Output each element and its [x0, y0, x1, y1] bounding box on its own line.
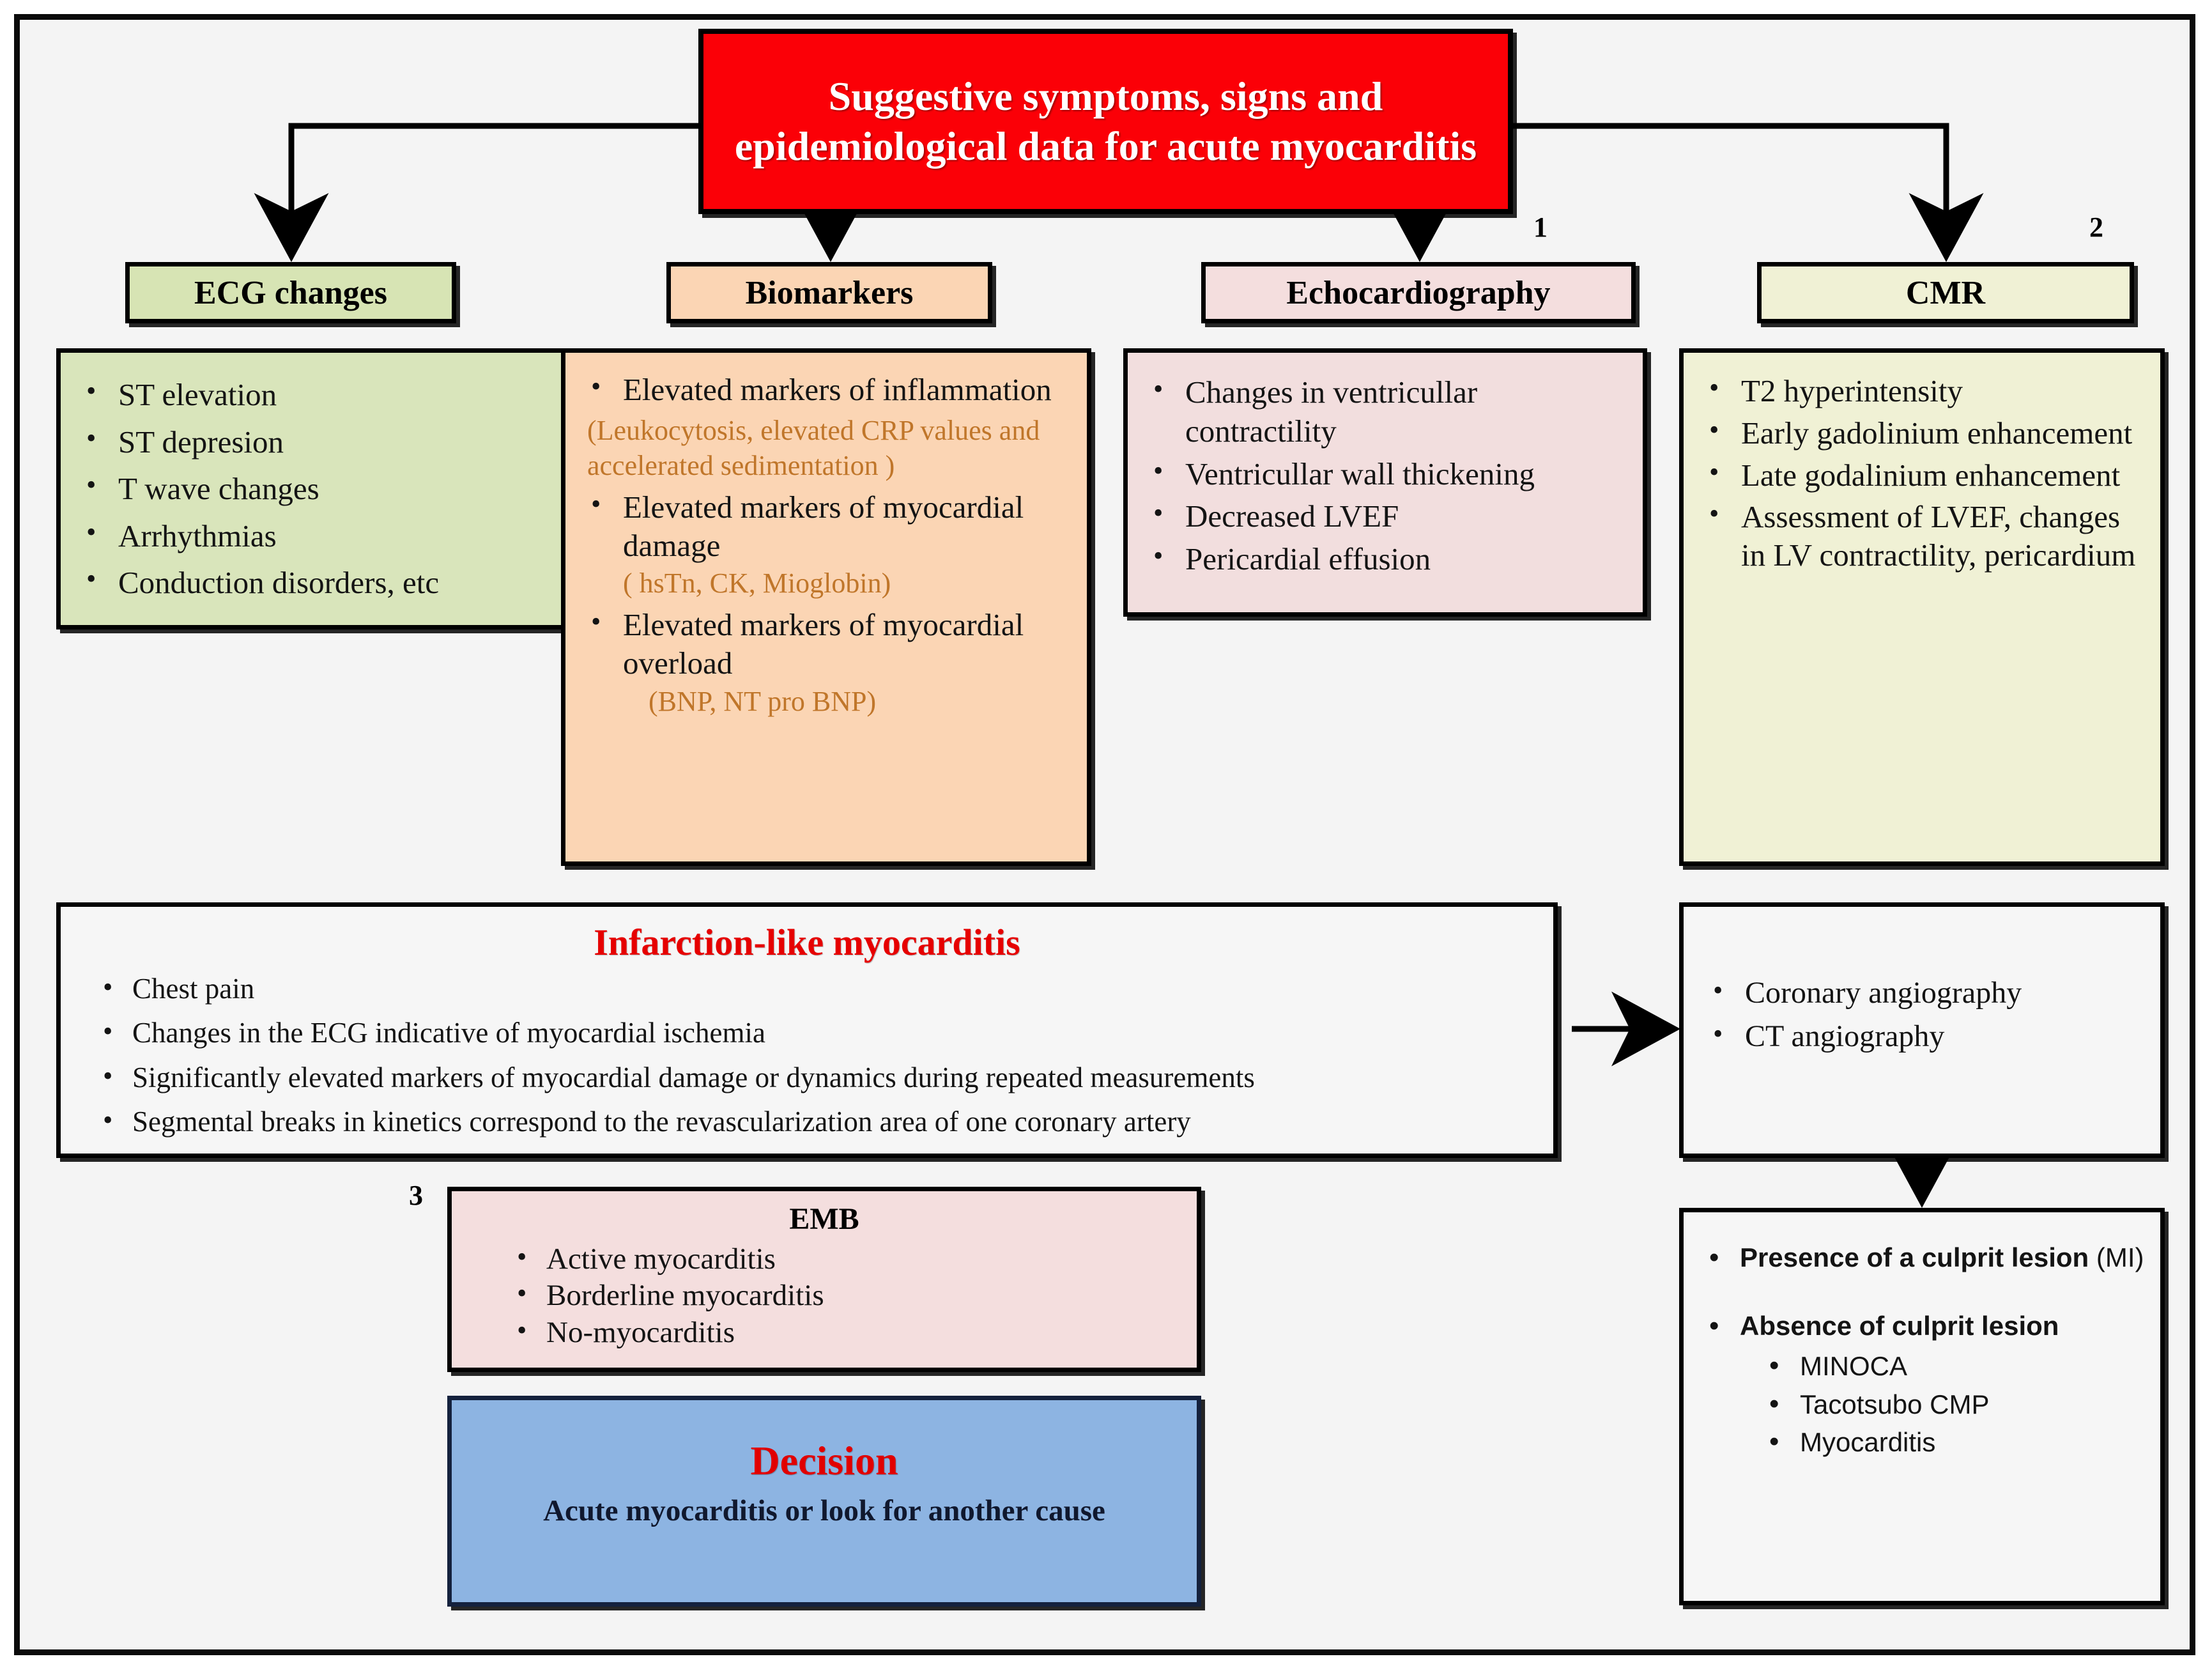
list-item: Late godalinium enhancement — [1705, 456, 2146, 495]
content-echocardiography: Changes in ventricullar contractility Ve… — [1123, 348, 1647, 617]
list-item: Pericardial effusion — [1149, 540, 1629, 579]
biomarker-note: (BNP, NT pro BNP) — [649, 684, 1073, 719]
list-item: Elevated markers of myocardial overload … — [587, 606, 1073, 719]
list-item: ST elevation — [82, 373, 549, 417]
list-item: Segmental breaks in kinetics correspond … — [99, 1107, 1540, 1137]
list-item: Early gadolinium enhancement — [1705, 414, 2146, 452]
emb-title: EMB — [452, 1191, 1197, 1237]
header-biomarkers: Biomarkers — [666, 262, 992, 323]
list-item: Arrhythmias — [82, 514, 549, 558]
absence-sublist: MINOCA Tacotsubo CMP Myocarditis — [1740, 1347, 2147, 1462]
decision-box: Decision Acute myocarditis or look for a… — [447, 1396, 1201, 1607]
page-title: Suggestive symptoms, signs and epidemiol… — [703, 72, 1508, 171]
list-item: T2 hyperintensity — [1705, 372, 2146, 410]
list-item: Significantly elevated markers of myocar… — [99, 1063, 1540, 1093]
list-item: ST depresion — [82, 421, 549, 464]
biomarker-note: ( hsTn, CK, Mioglobin) — [623, 566, 1073, 601]
list-item: Coronary angiography — [1709, 973, 2151, 1013]
biomarker-main: Elevated markers of inflammation — [623, 372, 1052, 407]
list-item: Assessment of LVEF, changes in LV contra… — [1705, 498, 2146, 575]
list-item-absence: Absence of culprit lesion MINOCA Tacotsu… — [1705, 1309, 2147, 1462]
biomarker-main: Elevated markers of myocardial damage — [623, 490, 1024, 563]
angiography-box: Coronary angiography CT angiography — [1679, 902, 2165, 1158]
list-item: No-myocarditis — [513, 1315, 1184, 1350]
sub-list-item: Myocarditis — [1765, 1423, 2147, 1462]
sub-list-item: Tacotsubo CMP — [1765, 1386, 2147, 1424]
emb-item-list: Active myocarditis Borderline myocarditi… — [452, 1237, 1197, 1350]
list-item: T wave changes — [82, 467, 549, 511]
list-item: Decreased LVEF — [1149, 497, 1629, 536]
footnote-marker-1: 1 — [1533, 211, 1548, 243]
presence-label: Presence of a culprit lesion — [1740, 1242, 2089, 1272]
spacer — [1705, 1276, 2147, 1309]
absence-label: Absence of culprit lesion — [1740, 1311, 2059, 1341]
list-item: Ventricullar wall thickening — [1149, 455, 1629, 494]
cmr-item-list: T2 hyperintensity Early gadolinium enhan… — [1684, 353, 2160, 575]
angiography-item-list: Coronary angiography CT angiography — [1684, 907, 2160, 1057]
infarction-like-myocarditis-box: Infarction-like myocarditis Chest pain C… — [56, 902, 1558, 1158]
list-item: Elevated markers of myocardial damage ( … — [587, 488, 1073, 601]
content-cmr: T2 hyperintensity Early gadolinium enhan… — [1679, 348, 2165, 866]
footnote-marker-2: 2 — [2089, 211, 2103, 243]
list-item: CT angiography — [1709, 1017, 2151, 1056]
list-item: Conduction disorders, etc — [82, 561, 549, 605]
diagram-canvas: Suggestive symptoms, signs and epidemiol… — [0, 0, 2212, 1675]
emb-box: EMB Active myocarditis Borderline myocar… — [447, 1187, 1201, 1372]
list-item: Elevated markers of inflammation — [587, 371, 1073, 409]
presence-abbrev: (MI) — [2089, 1242, 2144, 1272]
list-item-presence: Presence of a culprit lesion (MI) — [1705, 1240, 2147, 1276]
infarction-item-list: Chest pain Changes in the ECG indicative… — [61, 964, 1553, 1137]
ecg-item-list: ST elevation ST depresion T wave changes… — [61, 353, 563, 605]
echo-item-list: Changes in ventricullar contractility Ve… — [1128, 353, 1643, 579]
main-title-box: Suggestive symptoms, signs and epidemiol… — [698, 29, 1513, 214]
list-item: Changes in the ECG indicative of myocard… — [99, 1018, 1540, 1048]
infarction-title: Infarction-like myocarditis — [61, 907, 1553, 964]
list-item: Active myocarditis — [513, 1242, 1184, 1277]
decision-title: Decision — [452, 1400, 1197, 1485]
footnote-marker-3: 3 — [409, 1179, 423, 1212]
decision-subtitle: Acute myocarditis or look for another ca… — [452, 1485, 1197, 1528]
culprit-lesion-box: Presence of a culprit lesion (MI) Absenc… — [1679, 1208, 2165, 1605]
header-cmr: CMR — [1757, 262, 2134, 323]
sub-list-item: MINOCA — [1765, 1347, 2147, 1386]
list-item: Chest pain — [99, 974, 1540, 1004]
culprit-item-list: Presence of a culprit lesion (MI) Absenc… — [1684, 1212, 2160, 1462]
biomarker-note: (Leukocytosis, elevated CRP values and a… — [587, 413, 1073, 483]
content-ecg-changes: ST elevation ST depresion T wave changes… — [56, 348, 567, 629]
header-ecg-changes: ECG changes — [125, 262, 456, 323]
list-item: Changes in ventricullar contractility — [1149, 373, 1629, 451]
list-item: Borderline myocarditis — [513, 1278, 1184, 1313]
header-echocardiography: Echocardiography — [1201, 262, 1636, 323]
biomarker-main: Elevated markers of myocardial overload — [623, 607, 1024, 681]
content-biomarkers: Elevated markers of inflammation (Leukoc… — [561, 348, 1091, 866]
biomarker-item-list: Elevated markers of inflammation (Leukoc… — [565, 353, 1087, 719]
